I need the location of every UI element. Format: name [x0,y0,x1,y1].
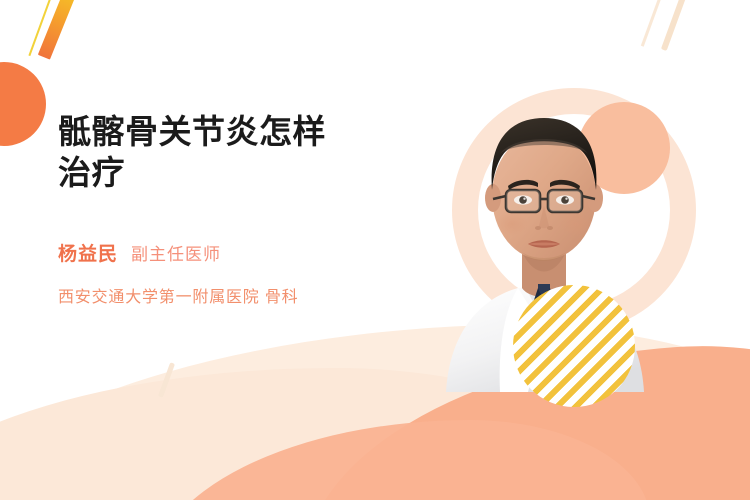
doctor-rank: 副主任医师 [131,240,221,265]
doctor-credentials-line: 杨益民 副主任医师 [58,239,418,266]
beige-diagonal-stripe-two [641,0,664,47]
orange-gradient-stripe [38,0,79,60]
text-content-block: 骶髂骨关节炎怎样 治疗 杨益民 副主任医师 西安交通大学第一附属医院 骨科 [58,112,418,307]
salmon-wave-shape-second [150,420,650,500]
thin-yellow-stripe [28,0,55,56]
doctor-video-thumbnail-card: 骶髂骨关节炎怎样 治疗 杨益民 副主任医师 西安交通大学第一附属医院 骨科 [0,0,750,500]
page-title: 骶髂骨关节炎怎样 治疗 [58,112,418,193]
beige-diagonal-stripe-one [661,0,689,51]
beige-diagonal-stripe-three [158,362,175,398]
solid-orange-circle [0,62,46,146]
doctor-name: 杨益民 [58,239,118,266]
doctor-affiliation: 西安交通大学第一附属医院 骨科 [58,283,418,307]
doctor-portrait-photo [438,92,650,392]
